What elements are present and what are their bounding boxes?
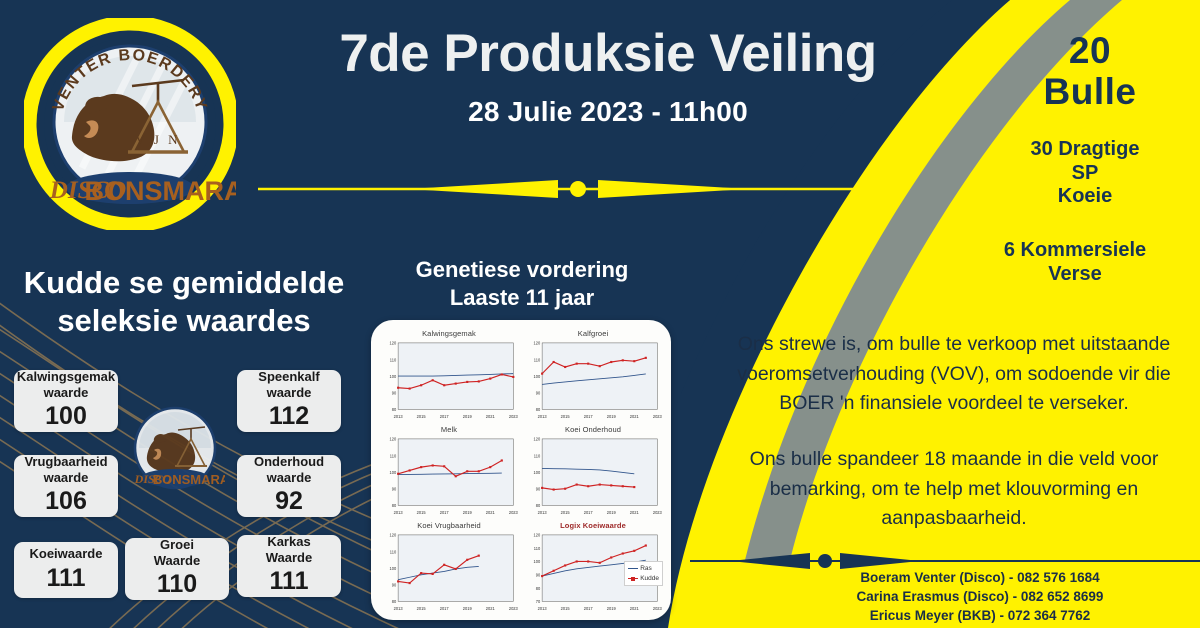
event-date: 28 Julie 2023 - 11h00 xyxy=(258,96,958,128)
svg-text:2015: 2015 xyxy=(417,414,427,419)
charts-heading: Genetiese vordering Laaste 11 jaar xyxy=(372,256,672,311)
poster-header: 7de Produksie Veiling 28 Julie 2023 - 11… xyxy=(258,26,958,128)
svg-text:100: 100 xyxy=(389,373,396,378)
svg-text:100: 100 xyxy=(533,469,540,474)
heifer-count-block: 6 Kommersiele Verse xyxy=(950,238,1200,286)
svg-text:2019: 2019 xyxy=(463,414,473,419)
stat-label-2: waarde xyxy=(267,470,312,486)
stat-box-groei: Groei Waarde 110 xyxy=(125,538,229,600)
svg-text:2013: 2013 xyxy=(394,414,404,419)
svg-text:2019: 2019 xyxy=(463,606,473,611)
chart-kalwingsgemak: Kalwingsgemak 80901001101202013201520172… xyxy=(377,328,521,424)
stat-box-koeiwaarde: Koeiwaarde 111 xyxy=(14,542,118,598)
stat-value: 111 xyxy=(270,568,309,596)
left-panel-heading: Kudde se gemiddelde seleksie waardes xyxy=(8,264,360,340)
svg-text:110: 110 xyxy=(534,453,541,458)
stat-box-karkas: Karkas Waarde 111 xyxy=(237,535,341,597)
stat-box-onderhoud: Onderhoud waarde 92 xyxy=(237,455,341,517)
cow-count-line1: 30 Dragtige xyxy=(975,138,1195,162)
stat-box-speenkalf: Speenkalf waarde 112 xyxy=(237,370,341,432)
svg-text:70: 70 xyxy=(536,599,541,604)
svg-text:2021: 2021 xyxy=(630,510,640,515)
legend-item-ras: Ras xyxy=(628,564,659,573)
svg-text:100: 100 xyxy=(533,559,540,564)
bull-count-block: 20 Bulle xyxy=(985,30,1195,113)
svg-text:2021: 2021 xyxy=(486,414,496,419)
svg-text:2015: 2015 xyxy=(561,510,571,515)
chart-title: Kalwingsgemak xyxy=(377,330,521,338)
chart-title: Koei Vrugbaarheid xyxy=(377,522,521,530)
svg-text:80: 80 xyxy=(392,503,397,508)
legend-label-ras: Ras xyxy=(640,564,652,573)
svg-text:2015: 2015 xyxy=(417,510,427,515)
pitch-paragraph-2: Ons bulle spandeer 18 maande in die veld… xyxy=(712,445,1196,534)
contact-list: Boeram Venter (Disco) - 082 576 1684 Car… xyxy=(760,568,1200,625)
svg-text:2019: 2019 xyxy=(607,414,617,419)
svg-text:90: 90 xyxy=(536,390,541,395)
pitch-paragraph-1: Ons strewe is, om bulle te verkoop met u… xyxy=(712,330,1196,419)
svg-text:2015: 2015 xyxy=(417,606,427,611)
page-title: 7de Produksie Veiling xyxy=(258,26,958,82)
svg-text:2013: 2013 xyxy=(538,606,548,611)
stat-label: Koeiwaarde xyxy=(30,546,103,562)
svg-text:90: 90 xyxy=(536,486,541,491)
svg-text:90: 90 xyxy=(392,582,397,587)
legend-swatch-kudde xyxy=(628,578,638,579)
svg-text:90: 90 xyxy=(536,572,541,577)
svg-text:2017: 2017 xyxy=(584,414,594,419)
svg-text:2017: 2017 xyxy=(584,606,594,611)
logo-bonsmara-text: BONSMARA xyxy=(85,176,237,206)
cow-count-line3: Koeie xyxy=(975,185,1195,209)
chart-title: Melk xyxy=(377,426,521,434)
svg-text:2017: 2017 xyxy=(440,606,450,611)
svg-text:2023: 2023 xyxy=(509,414,519,419)
svg-text:100: 100 xyxy=(389,565,396,570)
stat-label: Onderhoud xyxy=(254,454,324,470)
pitch-text: Ons strewe is, om bulle te verkoop met u… xyxy=(712,330,1196,534)
svg-text:80: 80 xyxy=(536,503,541,508)
stat-value: 110 xyxy=(157,571,197,599)
svg-text:110: 110 xyxy=(390,453,397,458)
svg-text:120: 120 xyxy=(533,340,540,345)
svg-text:80: 80 xyxy=(392,407,397,412)
stat-label: Vrugbaarheid xyxy=(24,454,107,470)
legend-label-kudde: Kudde xyxy=(640,574,659,583)
svg-text:2013: 2013 xyxy=(538,510,548,515)
svg-text:120: 120 xyxy=(389,340,396,345)
left-heading-line2: seleksie waardes xyxy=(8,302,360,340)
svg-text:2013: 2013 xyxy=(394,510,404,515)
stat-label: Groei xyxy=(160,537,194,553)
svg-text:120: 120 xyxy=(389,532,396,537)
svg-text:120: 120 xyxy=(533,436,540,441)
chart-title: Koei Onderhoud xyxy=(521,426,665,434)
stat-value: 111 xyxy=(47,565,86,593)
brand-logo: V J N VENTER BOERDERY DISCO BONSMARA xyxy=(24,18,236,230)
cow-count-line2: SP xyxy=(975,162,1195,186)
svg-text:90: 90 xyxy=(392,390,397,395)
chart-koei-vrugbaarheid: Koei Vrugbaarheid 8090100110120201320152… xyxy=(377,520,521,616)
charts-heading-line2: Laaste 11 jaar xyxy=(372,284,672,312)
svg-text:100: 100 xyxy=(389,469,396,474)
svg-text:V J N: V J N xyxy=(135,132,180,147)
heifer-count-line1: 6 Kommersiele xyxy=(950,238,1200,262)
header-divider xyxy=(258,172,898,206)
chart-title: Kalfgroei xyxy=(521,330,665,338)
svg-text:2015: 2015 xyxy=(561,606,571,611)
svg-text:2017: 2017 xyxy=(584,510,594,515)
svg-text:2023: 2023 xyxy=(509,606,519,611)
auction-poster: V J N VENTER BOERDERY DISCO BONSMARA 7de… xyxy=(0,0,1200,628)
svg-text:2023: 2023 xyxy=(653,510,663,515)
svg-text:2021: 2021 xyxy=(486,606,496,611)
stat-value: 112 xyxy=(269,403,309,431)
left-heading-line1: Kudde se gemiddelde xyxy=(8,264,360,302)
svg-text:110: 110 xyxy=(390,357,397,362)
stat-label-2: Waarde xyxy=(154,553,200,569)
svg-text:2017: 2017 xyxy=(440,510,450,515)
svg-text:100: 100 xyxy=(533,373,540,378)
chart-title: Logix Koeiwaarde xyxy=(521,522,665,530)
svg-text:80: 80 xyxy=(536,585,541,590)
svg-text:2017: 2017 xyxy=(440,414,450,419)
svg-text:120: 120 xyxy=(389,436,396,441)
svg-text:90: 90 xyxy=(392,486,397,491)
chart-logix-koeiwaarde: Logix Koeiwaarde 70809010011012020132015… xyxy=(521,520,665,616)
stat-box-vrugbaarheid: Vrugbaarheid waarde 106 xyxy=(14,455,118,517)
heifer-count-line2: Verse xyxy=(950,262,1200,286)
svg-text:2021: 2021 xyxy=(630,606,640,611)
svg-text:2015: 2015 xyxy=(561,414,571,419)
svg-text:2013: 2013 xyxy=(394,606,404,611)
svg-text:110: 110 xyxy=(534,357,541,362)
svg-text:2023: 2023 xyxy=(653,414,663,419)
chart-melk: Melk 80901001101202013201520172019202120… xyxy=(377,424,521,520)
stat-label-2: waarde xyxy=(267,385,312,401)
stat-label-2: waarde xyxy=(44,470,89,486)
stat-value: 106 xyxy=(45,488,87,516)
stat-value: 100 xyxy=(45,403,87,431)
bull-count-label: Bulle xyxy=(985,71,1195,112)
brand-logo-small: DISCO BONSMARA xyxy=(125,400,225,500)
stat-value: 92 xyxy=(275,488,303,516)
svg-text:2021: 2021 xyxy=(630,414,640,419)
stat-label: Karkas xyxy=(267,534,310,550)
svg-text:2019: 2019 xyxy=(607,606,617,611)
stat-label: Kalwingsgemak xyxy=(17,369,115,385)
stat-label-2: waarde xyxy=(44,385,89,401)
stat-label: Speenkalf xyxy=(258,369,319,385)
chart-legend: Ras Kudde xyxy=(624,561,663,586)
svg-text:120: 120 xyxy=(533,532,540,537)
charts-heading-line1: Genetiese vordering xyxy=(372,256,672,284)
chart-kalfgroei: Kalfgroei 809010011012020132015201720192… xyxy=(521,328,665,424)
legend-item-kudde: Kudde xyxy=(628,574,659,583)
svg-text:80: 80 xyxy=(392,599,397,604)
svg-text:BONSMARA: BONSMARA xyxy=(153,472,225,487)
chart-koei-onderhoud: Koei Onderhoud 8090100110120201320152017… xyxy=(521,424,665,520)
svg-text:110: 110 xyxy=(390,549,397,554)
charts-card: Kalwingsgemak 80901001101202013201520172… xyxy=(371,320,671,620)
svg-text:2019: 2019 xyxy=(463,510,473,515)
svg-text:2023: 2023 xyxy=(653,606,663,611)
stat-box-kalwingsgemak: Kalwingsgemak waarde 100 xyxy=(14,370,118,432)
svg-text:2013: 2013 xyxy=(538,414,548,419)
legend-swatch-ras xyxy=(628,568,638,569)
stat-label-2: Waarde xyxy=(266,550,312,566)
cow-count-block: 30 Dragtige SP Koeie xyxy=(975,138,1195,209)
svg-text:110: 110 xyxy=(534,545,541,550)
contact-item: Boeram Venter (Disco) - 082 576 1684 xyxy=(760,568,1200,587)
charts-grid: Kalwingsgemak 80901001101202013201520172… xyxy=(377,328,665,616)
svg-text:2021: 2021 xyxy=(486,510,496,515)
contact-item: Ericus Meyer (BKB) - 072 364 7762 xyxy=(760,606,1200,625)
svg-text:2023: 2023 xyxy=(509,510,519,515)
contact-item: Carina Erasmus (Disco) - 082 652 8699 xyxy=(760,587,1200,606)
bull-count-number: 20 xyxy=(985,30,1195,71)
svg-text:80: 80 xyxy=(536,407,541,412)
svg-text:2019: 2019 xyxy=(607,510,617,515)
